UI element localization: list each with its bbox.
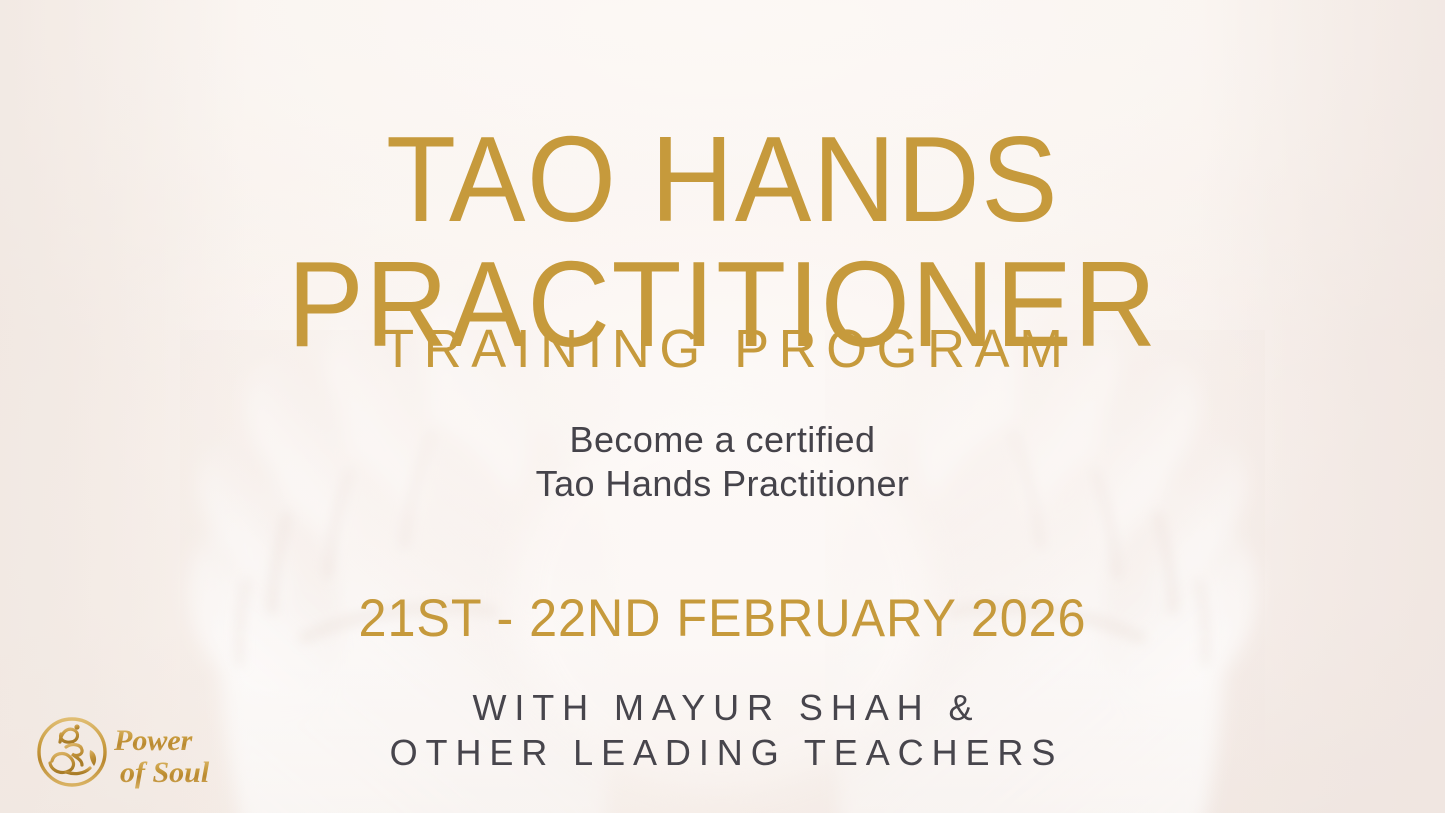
logo-script-line-1: Power [113, 724, 193, 757]
om-circle-icon [39, 719, 105, 785]
poster-content: TAO HANDS PRACTITIONER TRAINING PROGRAM … [0, 0, 1445, 813]
title-line-1: TAO HANDS [386, 111, 1059, 247]
description-text: Become a certified Tao Hands Practitione… [0, 418, 1445, 506]
power-of-soul-logo: Power of Soul [28, 706, 228, 798]
description-line-2: Tao Hands Practitioner [0, 462, 1445, 506]
event-dates: 21ST - 22ND FEBRUARY 2026 [36, 588, 1409, 649]
promo-poster: TAO HANDS PRACTITIONER TRAINING PROGRAM … [0, 0, 1445, 813]
description-line-1: Become a certified [0, 418, 1445, 462]
subtitle: TRAINING PROGRAM [22, 318, 1424, 380]
logo-script-line-2: of Soul [120, 756, 210, 789]
